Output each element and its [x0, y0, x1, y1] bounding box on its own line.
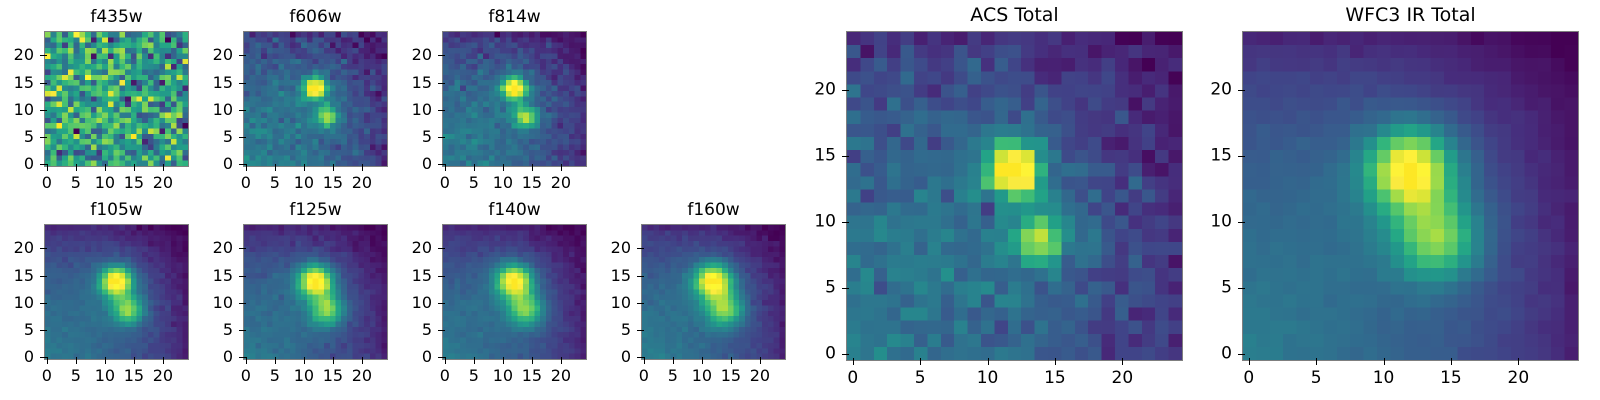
- ytick-inner-f125w-5: [243, 330, 246, 331]
- panel-f105w: f105w0510152005101520: [44, 224, 189, 360]
- xtick-f125w-15: [333, 360, 334, 364]
- xtick-inner-f140w-10: [503, 357, 504, 360]
- ytick-inner-acs-total-5: [846, 288, 849, 289]
- xtick-f814w-5: [474, 167, 475, 171]
- yticklabel-f435w-10: 10: [14, 102, 34, 118]
- xtick-wfc3-ir-total-15: [1451, 361, 1452, 365]
- yticklabel-f435w-20: 20: [14, 47, 34, 63]
- xtick-f105w-15: [134, 360, 135, 364]
- yticklabel-f105w-5: 5: [24, 322, 34, 338]
- panel-title-acs-total: ACS Total: [846, 6, 1183, 25]
- ytick-inner-wfc3-ir-total-5: [1242, 288, 1245, 289]
- ytick-inner-acs-total-0: [846, 354, 849, 355]
- panel-title-f160w: f160w: [641, 202, 786, 219]
- panel-acs-total: ACS Total0510152005101520: [846, 31, 1183, 361]
- xtick-f814w-15: [532, 167, 533, 171]
- xticklabel-f125w-5: 5: [270, 368, 280, 384]
- xtick-inner-f125w-15: [333, 357, 334, 360]
- axes-acs-total: [846, 31, 1183, 361]
- yticklabel-f105w-10: 10: [14, 295, 34, 311]
- ytick-inner-f140w-15: [442, 276, 445, 277]
- xticklabel-f160w-15: 15: [721, 368, 741, 384]
- yticklabel-wfc3-ir-total-15: 15: [1210, 148, 1232, 165]
- xtick-inner-wfc3-ir-total-0: [1249, 358, 1250, 361]
- xtick-wfc3-ir-total-0: [1249, 361, 1250, 365]
- ytick-inner-f814w-5: [442, 137, 445, 138]
- panel-title-f814w: f814w: [442, 9, 587, 26]
- xtick-wfc3-ir-total-10: [1384, 361, 1385, 365]
- xticklabel-wfc3-ir-total-20: 20: [1508, 370, 1530, 387]
- xtick-inner-f160w-0: [644, 357, 645, 360]
- ytick-inner-f814w-15: [442, 83, 445, 84]
- xtick-inner-f160w-20: [760, 357, 761, 360]
- heatmap-image-f606w: [244, 32, 387, 166]
- ytick-inner-f814w-0: [442, 164, 445, 165]
- xtick-inner-wfc3-ir-total-20: [1518, 358, 1519, 361]
- xticklabel-f105w-10: 10: [95, 368, 115, 384]
- heatmap-image-f105w: [45, 225, 188, 359]
- xtick-f606w-0: [246, 167, 247, 171]
- xtick-inner-acs-total-10: [988, 358, 989, 361]
- xtick-inner-f435w-15: [134, 164, 135, 167]
- ytick-inner-f105w-5: [44, 330, 47, 331]
- axes-f606w: [243, 31, 388, 167]
- xtick-inner-f140w-0: [445, 357, 446, 360]
- xtick-f125w-10: [304, 360, 305, 364]
- xtick-inner-f140w-15: [532, 357, 533, 360]
- xtick-f160w-5: [673, 360, 674, 364]
- yticklabel-f105w-20: 20: [14, 240, 34, 256]
- panel-title-f105w: f105w: [44, 202, 189, 219]
- xtick-f435w-10: [105, 167, 106, 171]
- xtick-f140w-0: [445, 360, 446, 364]
- panel-title-f125w: f125w: [243, 202, 388, 219]
- ytick-inner-acs-total-20: [846, 90, 849, 91]
- xtick-inner-f814w-10: [503, 164, 504, 167]
- panel-title-f435w: f435w: [44, 9, 189, 26]
- yticklabel-f105w-0: 0: [24, 349, 34, 365]
- ytick-inner-f435w-15: [44, 83, 47, 84]
- xticklabel-acs-total-5: 5: [915, 370, 926, 387]
- xtick-f125w-5: [275, 360, 276, 364]
- xtick-inner-acs-total-5: [920, 358, 921, 361]
- xtick-f140w-20: [561, 360, 562, 364]
- xtick-inner-f160w-15: [731, 357, 732, 360]
- yticklabel-f435w-0: 0: [24, 156, 34, 172]
- xtick-inner-f125w-20: [362, 357, 363, 360]
- xtick-f160w-20: [760, 360, 761, 364]
- yticklabel-acs-total-0: 0: [825, 346, 836, 363]
- yticklabel-f160w-5: 5: [621, 322, 631, 338]
- xticklabel-wfc3-ir-total-10: 10: [1373, 370, 1395, 387]
- xtick-f105w-10: [105, 360, 106, 364]
- xticklabel-wfc3-ir-total-15: 15: [1440, 370, 1462, 387]
- xticklabel-f435w-20: 20: [153, 175, 173, 191]
- heatmap-image-acs-total: [847, 32, 1182, 360]
- axes-f435w: [44, 31, 189, 167]
- yticklabel-f140w-5: 5: [422, 322, 432, 338]
- yticklabel-f606w-0: 0: [223, 156, 233, 172]
- yticklabel-f606w-10: 10: [213, 102, 233, 118]
- xticklabel-acs-total-10: 10: [977, 370, 999, 387]
- xticklabel-f814w-15: 15: [522, 175, 542, 191]
- xticklabel-f606w-20: 20: [352, 175, 372, 191]
- axes-f105w: [44, 224, 189, 360]
- xticklabel-f814w-20: 20: [551, 175, 571, 191]
- xticklabel-f140w-5: 5: [469, 368, 479, 384]
- xticklabel-f105w-0: 0: [42, 368, 52, 384]
- ytick-inner-f606w-0: [243, 164, 246, 165]
- ytick-inner-f160w-15: [641, 276, 644, 277]
- ytick-inner-f435w-5: [44, 137, 47, 138]
- xticklabel-acs-total-0: 0: [847, 370, 858, 387]
- yticklabel-f435w-5: 5: [24, 129, 34, 145]
- yticklabel-f160w-0: 0: [621, 349, 631, 365]
- xtick-inner-wfc3-ir-total-15: [1451, 358, 1452, 361]
- ytick-inner-acs-total-10: [846, 222, 849, 223]
- ytick-inner-wfc3-ir-total-10: [1242, 222, 1245, 223]
- xticklabel-f160w-20: 20: [750, 368, 770, 384]
- ytick-inner-wfc3-ir-total-20: [1242, 90, 1245, 91]
- xticklabel-f606w-5: 5: [270, 175, 280, 191]
- axes-f140w: [442, 224, 587, 360]
- yticklabel-f160w-20: 20: [611, 240, 631, 256]
- xtick-acs-total-15: [1055, 361, 1056, 365]
- ytick-inner-acs-total-15: [846, 156, 849, 157]
- xticklabel-f140w-15: 15: [522, 368, 542, 384]
- xtick-f140w-10: [503, 360, 504, 364]
- panel-title-f140w: f140w: [442, 202, 587, 219]
- xtick-f814w-0: [445, 167, 446, 171]
- ytick-inner-f140w-5: [442, 330, 445, 331]
- yticklabel-f606w-20: 20: [213, 47, 233, 63]
- xtick-inner-f606w-5: [275, 164, 276, 167]
- yticklabel-f160w-15: 15: [611, 268, 631, 284]
- ytick-inner-f160w-10: [641, 303, 644, 304]
- axes-f125w: [243, 224, 388, 360]
- xticklabel-wfc3-ir-total-0: 0: [1243, 370, 1254, 387]
- xtick-f606w-20: [362, 167, 363, 171]
- xtick-inner-f105w-15: [134, 357, 135, 360]
- panel-f140w: f140w0510152005101520: [442, 224, 587, 360]
- ytick-inner-f606w-5: [243, 137, 246, 138]
- xtick-inner-f814w-5: [474, 164, 475, 167]
- axes-f814w: [442, 31, 587, 167]
- ytick-inner-f140w-0: [442, 357, 445, 358]
- panel-f606w: f606w0510152005101520: [243, 31, 388, 167]
- xtick-f160w-15: [731, 360, 732, 364]
- panel-title-wfc3-ir-total: WFC3 IR Total: [1242, 6, 1579, 25]
- ytick-inner-wfc3-ir-total-15: [1242, 156, 1245, 157]
- ytick-inner-f140w-10: [442, 303, 445, 304]
- yticklabel-wfc3-ir-total-5: 5: [1221, 280, 1232, 297]
- ytick-inner-f435w-0: [44, 164, 47, 165]
- yticklabel-f105w-15: 15: [14, 268, 34, 284]
- yticklabel-f125w-10: 10: [213, 295, 233, 311]
- xticklabel-f606w-10: 10: [294, 175, 314, 191]
- xtick-inner-f814w-0: [445, 164, 446, 167]
- xticklabel-acs-total-15: 15: [1044, 370, 1066, 387]
- xtick-f435w-0: [47, 167, 48, 171]
- xtick-inner-f140w-20: [561, 357, 562, 360]
- xticklabel-f814w-0: 0: [440, 175, 450, 191]
- ytick-inner-f435w-20: [44, 55, 47, 56]
- xtick-f606w-10: [304, 167, 305, 171]
- yticklabel-f125w-0: 0: [223, 349, 233, 365]
- xtick-inner-f606w-20: [362, 164, 363, 167]
- ytick-inner-f125w-20: [243, 248, 246, 249]
- ytick-inner-f140w-20: [442, 248, 445, 249]
- xtick-f814w-20: [561, 167, 562, 171]
- xtick-inner-f105w-0: [47, 357, 48, 360]
- xtick-inner-f160w-5: [673, 357, 674, 360]
- xtick-f435w-15: [134, 167, 135, 171]
- xtick-acs-total-5: [920, 361, 921, 365]
- xticklabel-f105w-20: 20: [153, 368, 173, 384]
- panel-f160w: f160w0510152005101520: [641, 224, 786, 360]
- axes-wfc3-ir-total: [1242, 31, 1579, 361]
- xtick-inner-f125w-0: [246, 357, 247, 360]
- xticklabel-f160w-10: 10: [692, 368, 712, 384]
- ytick-inner-f606w-20: [243, 55, 246, 56]
- yticklabel-f814w-10: 10: [412, 102, 432, 118]
- xtick-wfc3-ir-total-20: [1518, 361, 1519, 365]
- yticklabel-wfc3-ir-total-20: 20: [1210, 82, 1232, 99]
- xticklabel-f435w-5: 5: [71, 175, 81, 191]
- xtick-f435w-5: [76, 167, 77, 171]
- xtick-f125w-0: [246, 360, 247, 364]
- figure-canvas: f435w0510152005101520f606w05101520051015…: [0, 0, 1600, 400]
- xtick-f105w-5: [76, 360, 77, 364]
- xtick-f140w-5: [474, 360, 475, 364]
- xticklabel-f140w-0: 0: [440, 368, 450, 384]
- xtick-f105w-0: [47, 360, 48, 364]
- ytick-inner-f105w-0: [44, 357, 47, 358]
- xtick-inner-f160w-10: [702, 357, 703, 360]
- heatmap-image-wfc3-ir-total: [1243, 32, 1578, 360]
- xticklabel-f814w-10: 10: [493, 175, 513, 191]
- xtick-f125w-20: [362, 360, 363, 364]
- xtick-inner-f435w-0: [47, 164, 48, 167]
- ytick-inner-f160w-0: [641, 357, 644, 358]
- yticklabel-f160w-10: 10: [611, 295, 631, 311]
- heatmap-image-f814w: [443, 32, 586, 166]
- xticklabel-f814w-5: 5: [469, 175, 479, 191]
- yticklabel-f814w-0: 0: [422, 156, 432, 172]
- axes-f160w: [641, 224, 786, 360]
- yticklabel-acs-total-5: 5: [825, 280, 836, 297]
- xticklabel-f140w-10: 10: [493, 368, 513, 384]
- panel-f814w: f814w0510152005101520: [442, 31, 587, 167]
- xtick-acs-total-20: [1122, 361, 1123, 365]
- yticklabel-f814w-20: 20: [412, 47, 432, 63]
- xticklabel-f125w-10: 10: [294, 368, 314, 384]
- xticklabel-f435w-10: 10: [95, 175, 115, 191]
- xticklabel-f606w-0: 0: [241, 175, 251, 191]
- xtick-f606w-15: [333, 167, 334, 171]
- xtick-acs-total-0: [853, 361, 854, 365]
- xtick-f160w-0: [644, 360, 645, 364]
- xtick-inner-f606w-0: [246, 164, 247, 167]
- xticklabel-f125w-0: 0: [241, 368, 251, 384]
- xtick-inner-acs-total-15: [1055, 358, 1056, 361]
- ytick-inner-f160w-20: [641, 248, 644, 249]
- xtick-inner-f105w-5: [76, 357, 77, 360]
- ytick-inner-f814w-10: [442, 110, 445, 111]
- ytick-inner-f125w-15: [243, 276, 246, 277]
- xtick-f814w-10: [503, 167, 504, 171]
- yticklabel-f140w-20: 20: [412, 240, 432, 256]
- xtick-f105w-20: [163, 360, 164, 364]
- ytick-inner-f160w-5: [641, 330, 644, 331]
- yticklabel-f435w-15: 15: [14, 75, 34, 91]
- xtick-inner-f125w-5: [275, 357, 276, 360]
- xtick-inner-f606w-15: [333, 164, 334, 167]
- heatmap-image-f160w: [642, 225, 785, 359]
- xticklabel-f105w-15: 15: [124, 368, 144, 384]
- yticklabel-f125w-5: 5: [223, 322, 233, 338]
- xtick-f606w-5: [275, 167, 276, 171]
- ytick-inner-f814w-20: [442, 55, 445, 56]
- xtick-inner-f105w-10: [105, 357, 106, 360]
- xtick-f160w-10: [702, 360, 703, 364]
- xtick-f435w-20: [163, 167, 164, 171]
- yticklabel-f606w-5: 5: [223, 129, 233, 145]
- ytick-inner-f105w-20: [44, 248, 47, 249]
- xtick-inner-f435w-5: [76, 164, 77, 167]
- ytick-inner-f105w-10: [44, 303, 47, 304]
- yticklabel-f140w-10: 10: [412, 295, 432, 311]
- xticklabel-f435w-0: 0: [42, 175, 52, 191]
- heatmap-image-f125w: [244, 225, 387, 359]
- xticklabel-f606w-15: 15: [323, 175, 343, 191]
- heatmap-image-f140w: [443, 225, 586, 359]
- yticklabel-acs-total-20: 20: [814, 82, 836, 99]
- xticklabel-f105w-5: 5: [71, 368, 81, 384]
- xtick-inner-f105w-20: [163, 357, 164, 360]
- xticklabel-f160w-5: 5: [668, 368, 678, 384]
- xticklabel-f140w-20: 20: [551, 368, 571, 384]
- xticklabel-f435w-15: 15: [124, 175, 144, 191]
- ytick-inner-f435w-10: [44, 110, 47, 111]
- xticklabel-wfc3-ir-total-5: 5: [1311, 370, 1322, 387]
- xtick-inner-f435w-10: [105, 164, 106, 167]
- panel-wfc3-ir-total: WFC3 IR Total0510152005101520: [1242, 31, 1579, 361]
- xtick-inner-wfc3-ir-total-5: [1316, 358, 1317, 361]
- xticklabel-acs-total-20: 20: [1112, 370, 1134, 387]
- yticklabel-f140w-15: 15: [412, 268, 432, 284]
- xticklabel-f125w-15: 15: [323, 368, 343, 384]
- yticklabel-wfc3-ir-total-10: 10: [1210, 214, 1232, 231]
- ytick-inner-f125w-0: [243, 357, 246, 358]
- panel-f435w: f435w0510152005101520: [44, 31, 189, 167]
- yticklabel-f125w-20: 20: [213, 240, 233, 256]
- xtick-inner-f814w-20: [561, 164, 562, 167]
- xtick-f140w-15: [532, 360, 533, 364]
- ytick-inner-f125w-10: [243, 303, 246, 304]
- yticklabel-f814w-15: 15: [412, 75, 432, 91]
- yticklabel-f140w-0: 0: [422, 349, 432, 365]
- xtick-wfc3-ir-total-5: [1316, 361, 1317, 365]
- panel-title-f606w: f606w: [243, 9, 388, 26]
- xtick-inner-f140w-5: [474, 357, 475, 360]
- xtick-inner-acs-total-20: [1122, 358, 1123, 361]
- xticklabel-f125w-20: 20: [352, 368, 372, 384]
- xtick-inner-f435w-20: [163, 164, 164, 167]
- xtick-inner-f814w-15: [532, 164, 533, 167]
- heatmap-image-f435w: [45, 32, 188, 166]
- ytick-inner-f606w-15: [243, 83, 246, 84]
- ytick-inner-f105w-15: [44, 276, 47, 277]
- ytick-inner-f606w-10: [243, 110, 246, 111]
- xtick-inner-acs-total-0: [853, 358, 854, 361]
- yticklabel-wfc3-ir-total-0: 0: [1221, 346, 1232, 363]
- xtick-inner-f606w-10: [304, 164, 305, 167]
- ytick-inner-wfc3-ir-total-0: [1242, 354, 1245, 355]
- yticklabel-acs-total-10: 10: [814, 214, 836, 231]
- xtick-inner-f125w-10: [304, 357, 305, 360]
- yticklabel-f606w-15: 15: [213, 75, 233, 91]
- yticklabel-f814w-5: 5: [422, 129, 432, 145]
- yticklabel-acs-total-15: 15: [814, 148, 836, 165]
- panel-f125w: f125w0510152005101520: [243, 224, 388, 360]
- xticklabel-f160w-0: 0: [639, 368, 649, 384]
- xtick-inner-wfc3-ir-total-10: [1384, 358, 1385, 361]
- xtick-acs-total-10: [988, 361, 989, 365]
- yticklabel-f125w-15: 15: [213, 268, 233, 284]
